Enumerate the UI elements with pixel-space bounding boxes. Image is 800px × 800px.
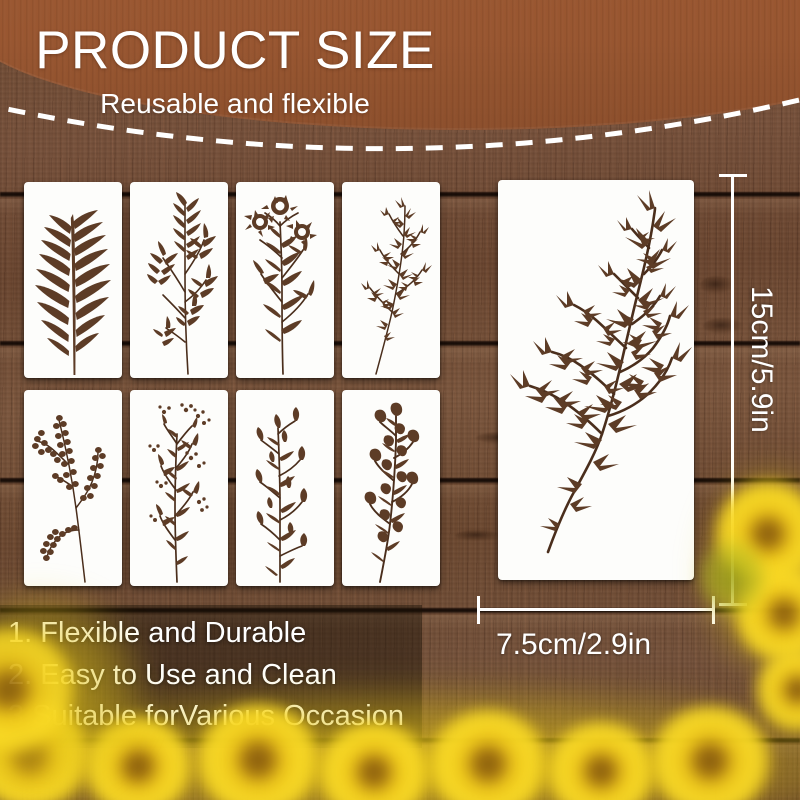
product-size-infographic: PRODUCT SIZE Reusable and flexible (0, 0, 800, 800)
dimension-line-horizontal (477, 608, 715, 611)
wood-knot (703, 318, 743, 334)
page-subtitle: Reusable and flexible (0, 89, 470, 120)
dimension-cap-right (712, 596, 715, 624)
stencil-card-berry-sprig[interactable] (24, 390, 122, 586)
stencil-card-fern-frond[interactable] (24, 182, 122, 378)
width-dimension-label: 7.5cm/2.9in (496, 628, 651, 662)
page-title: PRODUCT SIZE (0, 24, 470, 78)
feature-item-2: 2. Easy to Use and Clean (8, 655, 404, 697)
dimension-line-vertical (731, 174, 734, 606)
stencil-card-dotted-bloom[interactable] (130, 390, 228, 586)
height-dimension-label: 15cm/5.9in (744, 286, 778, 433)
header-text-block: PRODUCT SIZE Reusable and flexible (0, 24, 470, 120)
wood-knot (700, 276, 734, 294)
stencil-card-bell-flower[interactable] (342, 390, 440, 586)
stencil-card-daisy-sprig[interactable] (236, 182, 334, 378)
stencil-card-bud-stem[interactable] (236, 390, 334, 586)
feature-item-1: 1. Flexible and Durable (8, 613, 404, 655)
stencil-card-wispy-grass[interactable] (342, 182, 440, 378)
dimension-cap-bottom (719, 603, 747, 606)
feature-list: 1. Flexible and Durable 2. Easy to Use a… (0, 605, 422, 748)
wood-knot (455, 530, 501, 541)
feature-item-3: 3.Suitable forVarious Occasion (8, 696, 404, 738)
stencil-card-large-wispy-grass[interactable] (498, 180, 694, 580)
stencil-card-leafy-branch[interactable] (130, 182, 228, 378)
